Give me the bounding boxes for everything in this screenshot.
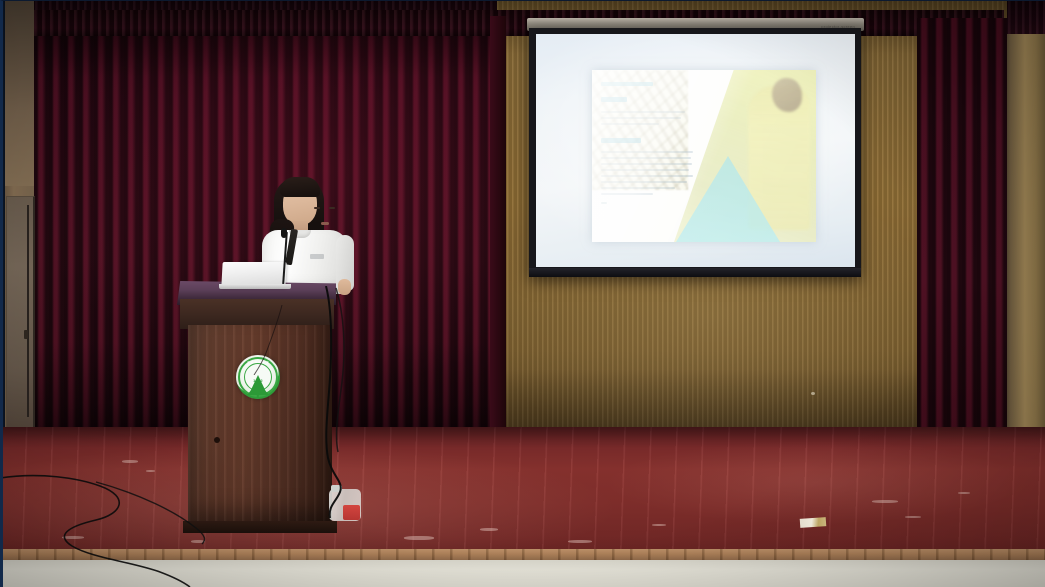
stage-floor [0,427,1045,559]
water-bottle[interactable] [327,483,363,523]
right-curtain-panel [917,18,1007,456]
floor-scuff [146,470,155,472]
tree-trunk-icon [257,393,259,398]
presenter-fringe [280,177,320,197]
slide-line [601,151,693,153]
projected-slide: Projected presentation slide [592,70,816,242]
auditorium-photo: projector-screen [0,0,1045,587]
slide-line [601,175,693,177]
presenter-hand [338,279,351,295]
bottle-label [343,505,360,520]
podium-base [183,521,337,533]
floor-scuff [122,460,138,463]
wall-mark [811,392,815,395]
door-handle-icon[interactable] [24,330,28,339]
slide-line [601,169,689,171]
bottle-cap [331,485,342,492]
slide-line [601,123,659,125]
slide-text-column [601,82,697,208]
floor-scuff [958,492,970,494]
left-wall-upper [3,0,34,186]
right-tan-column [1003,34,1045,454]
floor-scuff [568,540,592,543]
side-door[interactable] [6,196,35,430]
slide-body-paragraph [601,151,697,195]
floor-scuff [480,528,498,531]
slide-line [601,181,687,183]
emblem-inner-disc: 1952 [244,363,272,391]
slide-line [601,111,685,113]
shirt-graphic [310,254,324,259]
floor-scuff [872,500,898,503]
slide-line [601,163,692,165]
slide-eyebrow [601,82,653,86]
slide-line [601,193,653,195]
slide-heading [601,97,627,102]
institution-emblem: 东北林业大学 1952 [236,355,280,399]
screen-surface: Projected presentation slide [536,34,855,267]
floor-scuff [905,516,921,518]
laptop-base[interactable] [219,284,291,289]
emblem-year: 1952 [245,378,271,383]
presenter-mouth [321,222,329,225]
podium-hole [214,437,220,443]
presenter-eye-right [329,207,335,209]
slide-subheading [601,138,641,143]
curtain-edge [490,16,506,456]
slide-line [601,117,681,119]
floor-scuff [191,540,205,543]
below-stage-wall [0,560,1045,587]
floor-scuff [652,524,666,526]
slide-line [601,187,675,189]
slide-photo-head [772,78,802,112]
microphone-head[interactable] [281,228,287,238]
slide-intro-paragraph [601,111,697,125]
slide-line [601,157,691,159]
screen-weight-bar [529,268,861,277]
presenter-eye-left [314,207,320,209]
paper-scrap [800,517,827,528]
projection-screen: Projected presentation slide [529,28,861,276]
left-frame-edge [0,0,5,455]
slide-bullet [601,202,607,204]
floor-scuff [62,536,84,539]
floor-scuff [404,536,434,540]
